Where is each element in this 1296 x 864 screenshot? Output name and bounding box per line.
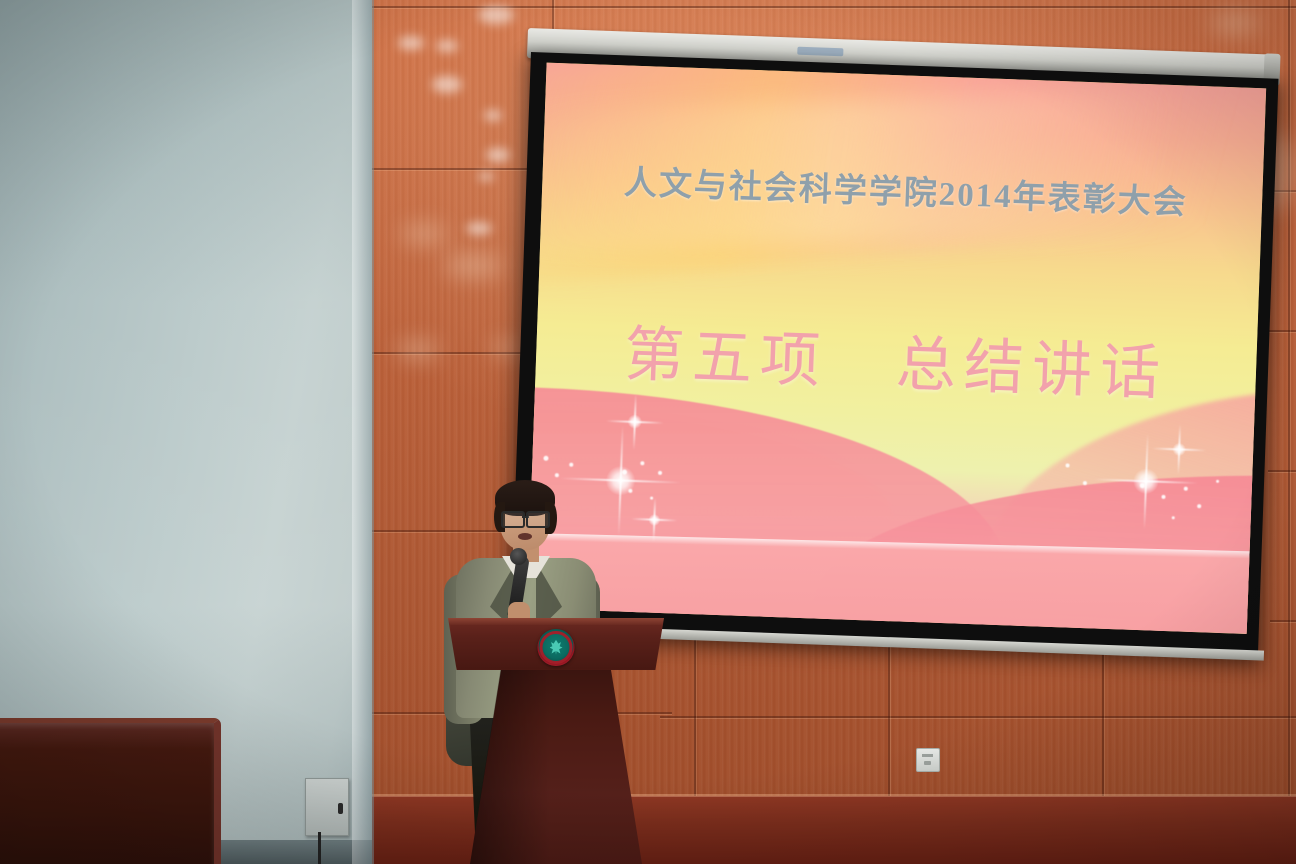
light-reflection bbox=[478, 6, 514, 24]
podium-top-lip bbox=[448, 618, 664, 625]
panel-seam bbox=[660, 716, 1296, 718]
electrical-box[interactable] bbox=[305, 778, 349, 836]
wall-corner-edge bbox=[352, 0, 374, 864]
conference-hall-photo: 人文与社会科学学院2014年表彰大会 第五项 总结讲话 bbox=[0, 0, 1296, 864]
light-reflection bbox=[486, 148, 510, 162]
podium-front-panel bbox=[448, 618, 664, 670]
eyeglasses-icon bbox=[501, 511, 550, 524]
panel-seam bbox=[1288, 0, 1290, 864]
light-reflection bbox=[396, 340, 440, 360]
sparkle-dot bbox=[555, 473, 559, 477]
sparkle-dot bbox=[1197, 504, 1201, 508]
projection-screen: 人文与社会科学学院2014年表彰大会 第五项 总结讲话 bbox=[510, 52, 1278, 656]
sparkle-dot bbox=[1183, 487, 1187, 491]
dark-wood-panel bbox=[0, 718, 221, 864]
light-reflection bbox=[432, 76, 462, 93]
electrical-cable bbox=[318, 832, 321, 864]
light-reflection bbox=[484, 110, 502, 121]
roller-brand-label bbox=[797, 47, 843, 57]
panel-seam bbox=[1270, 620, 1296, 622]
podium bbox=[448, 618, 664, 864]
sparkle-dot bbox=[1083, 481, 1087, 485]
light-reflection bbox=[436, 40, 458, 52]
light-reflection bbox=[400, 224, 448, 244]
projection-screen-surface: 人文与社会科学学院2014年表彰大会 第五项 总结讲话 bbox=[527, 63, 1266, 634]
university-emblem bbox=[538, 629, 575, 666]
light-reflection bbox=[1210, 12, 1260, 34]
sparkle-dot bbox=[1161, 494, 1165, 498]
podium-base-shading bbox=[470, 670, 550, 864]
wall-outlet[interactable] bbox=[916, 748, 940, 772]
light-reflection bbox=[398, 36, 424, 50]
light-reflection bbox=[478, 172, 494, 181]
panel-seam bbox=[372, 6, 1296, 8]
sparkle-dot bbox=[1065, 464, 1069, 468]
light-reflection bbox=[466, 222, 492, 235]
sparkle-dot bbox=[543, 456, 548, 461]
light-reflection bbox=[444, 254, 504, 278]
speaker-mouth bbox=[518, 533, 532, 540]
